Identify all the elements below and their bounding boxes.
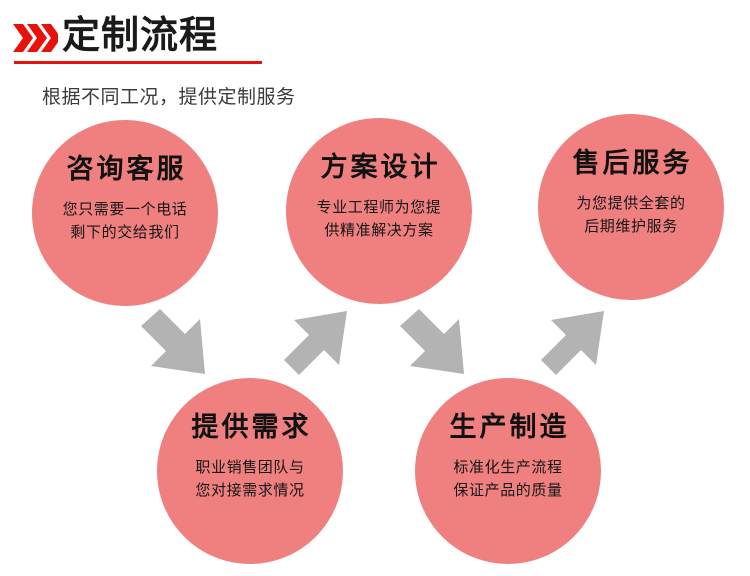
flow-node-requirement[interactable]: 提供需求 职业销售团队与 您对接需求情况 [157, 378, 343, 564]
flow-node-desc-line: 专业工程师为您提 [317, 197, 442, 220]
flow-node-description: 专业工程师为您提 供精准解决方案 [317, 197, 442, 243]
flow-node-desc-line: 后期维护服务 [576, 216, 685, 239]
flow-node-desc-line: 您只需要一个电话 [63, 199, 188, 222]
flow-arrow-up-right-2 [541, 311, 604, 375]
flow-node-desc-line: 标准化生产流程 [453, 457, 562, 480]
flow-arrow-up-right-1 [284, 311, 347, 375]
process-flow-diagram: 咨询客服 您只需要一个电话 剩下的交给我们 方案设计 专业工程师为您提 供精准解… [0, 0, 750, 576]
flow-node-description: 您只需要一个电话 剩下的交给我们 [63, 199, 188, 245]
flow-node-desc-line: 剩下的交给我们 [63, 222, 188, 245]
flow-node-manufacture[interactable]: 生产制造 标准化生产流程 保证产品的质量 [415, 378, 601, 564]
flow-node-title: 生产制造 [447, 411, 570, 443]
flow-node-title: 售后服务 [570, 147, 693, 179]
flow-node-title: 咨询客服 [64, 153, 187, 185]
flow-node-design[interactable]: 方案设计 专业工程师为您提 供精准解决方案 [286, 118, 472, 304]
flow-node-consult[interactable]: 咨询客服 您只需要一个电话 剩下的交给我们 [32, 120, 218, 306]
flow-arrow-down-right-2 [400, 309, 464, 374]
flow-node-description: 标准化生产流程 保证产品的质量 [453, 457, 562, 503]
flow-node-desc-line: 职业销售团队与 [195, 457, 304, 480]
flow-node-title: 方案设计 [318, 151, 441, 183]
flow-node-description: 职业销售团队与 您对接需求情况 [195, 457, 304, 503]
flow-node-aftersales[interactable]: 售后服务 为您提供全套的 后期维护服务 [538, 114, 724, 300]
flow-arrow-down-right-1 [141, 309, 205, 374]
flow-node-description: 为您提供全套的 后期维护服务 [576, 193, 685, 239]
flow-node-desc-line: 您对接需求情况 [195, 480, 304, 503]
flow-node-desc-line: 为您提供全套的 [576, 193, 685, 216]
flow-node-desc-line: 保证产品的质量 [453, 480, 562, 503]
flow-node-desc-line: 供精准解决方案 [317, 220, 442, 243]
flow-node-title: 提供需求 [189, 411, 312, 443]
